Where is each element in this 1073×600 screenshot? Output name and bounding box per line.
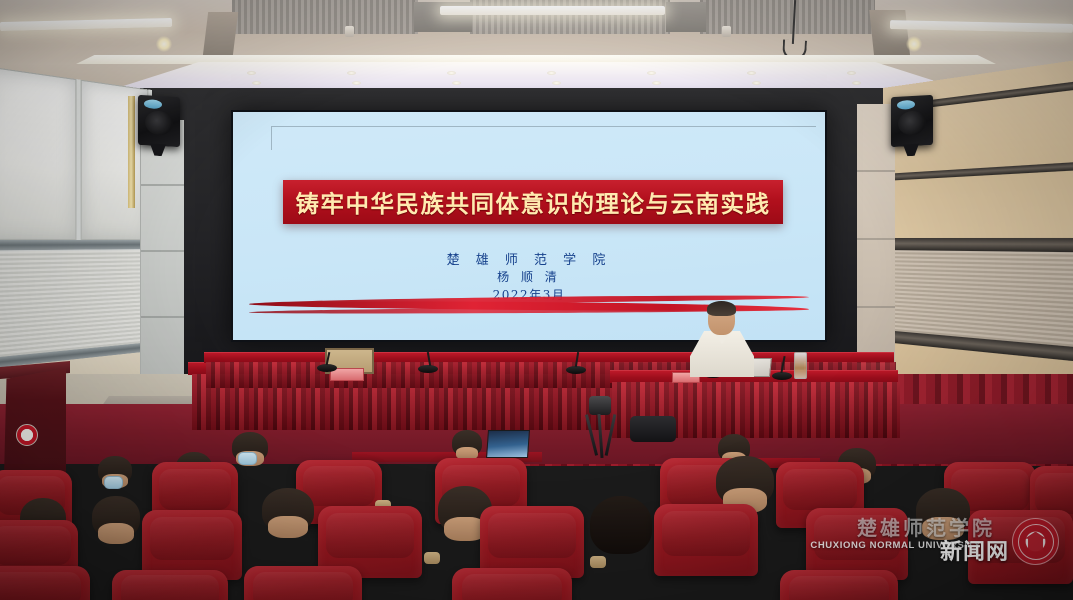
left-tiled-pillar bbox=[140, 120, 184, 390]
podium bbox=[4, 368, 66, 476]
microphone-base bbox=[418, 365, 438, 373]
wall-speaker-right bbox=[891, 95, 933, 147]
slide-presenter: 杨 顺 清 bbox=[233, 269, 825, 286]
ceiling-sensor bbox=[345, 26, 354, 37]
tea-glass bbox=[794, 352, 807, 379]
seat bbox=[780, 570, 898, 600]
slide-title-banner: 铸牢中华民族共同体意识的理论与云南实践 bbox=[283, 180, 783, 224]
wall-speaker-left bbox=[138, 95, 180, 147]
seat-armrest bbox=[424, 552, 440, 564]
wall-trim-band bbox=[0, 240, 157, 250]
ceiling-sensor bbox=[722, 26, 731, 37]
seat bbox=[968, 510, 1073, 584]
gold-pillar-trim bbox=[128, 96, 135, 208]
speaker-badge bbox=[897, 100, 915, 110]
audience-head bbox=[916, 488, 970, 534]
ceiling-beam bbox=[666, 2, 706, 32]
ceiling-light-strip bbox=[890, 20, 1073, 33]
seat-armrest bbox=[590, 556, 606, 568]
face-mask bbox=[238, 452, 257, 465]
ceiling-light-strip bbox=[440, 6, 665, 15]
ceiling-light-strip bbox=[0, 18, 172, 31]
audience-head bbox=[92, 496, 140, 538]
microphone-base bbox=[566, 366, 586, 374]
window-blind bbox=[0, 65, 76, 240]
audience-head bbox=[590, 496, 652, 554]
podium-emblem-icon bbox=[16, 424, 38, 446]
seat bbox=[654, 504, 758, 576]
wall-ribbed-panel bbox=[0, 250, 157, 359]
ceiling-vent-panel bbox=[232, 0, 418, 34]
microphone-base bbox=[772, 372, 792, 380]
seat bbox=[112, 570, 228, 600]
seat bbox=[452, 568, 572, 600]
speaker-badge bbox=[144, 99, 162, 109]
slide-corner-rule bbox=[271, 126, 816, 150]
speaker-cone-icon bbox=[145, 110, 173, 135]
face-mask bbox=[104, 476, 123, 489]
camera-head bbox=[589, 396, 611, 415]
audience-head bbox=[262, 488, 314, 532]
wall-trim-band bbox=[874, 160, 1073, 182]
slide-title: 铸牢中华民族共同体意识的理论与云南实践 bbox=[296, 185, 771, 219]
speaker-cone-icon bbox=[898, 110, 926, 135]
audience-head bbox=[716, 456, 774, 506]
ceiling-spotlight bbox=[906, 36, 922, 52]
ceiling-spotlight bbox=[156, 36, 172, 52]
lecture-hall-photo: 铸牢中华民族共同体意识的理论与云南实践 楚 雄 师 范 学 院 杨 顺 清 20… bbox=[0, 0, 1073, 600]
seat bbox=[0, 566, 90, 600]
presenter bbox=[690, 303, 754, 373]
audience-head bbox=[452, 430, 482, 456]
audience-laptop bbox=[486, 430, 530, 458]
right-tiled-pillar bbox=[857, 104, 895, 390]
seat bbox=[244, 566, 362, 600]
equipment-bag bbox=[630, 416, 676, 442]
ceiling-beam bbox=[869, 10, 910, 62]
slide-institution: 楚 雄 师 范 学 院 bbox=[233, 252, 825, 269]
presenter-hair bbox=[707, 301, 736, 316]
